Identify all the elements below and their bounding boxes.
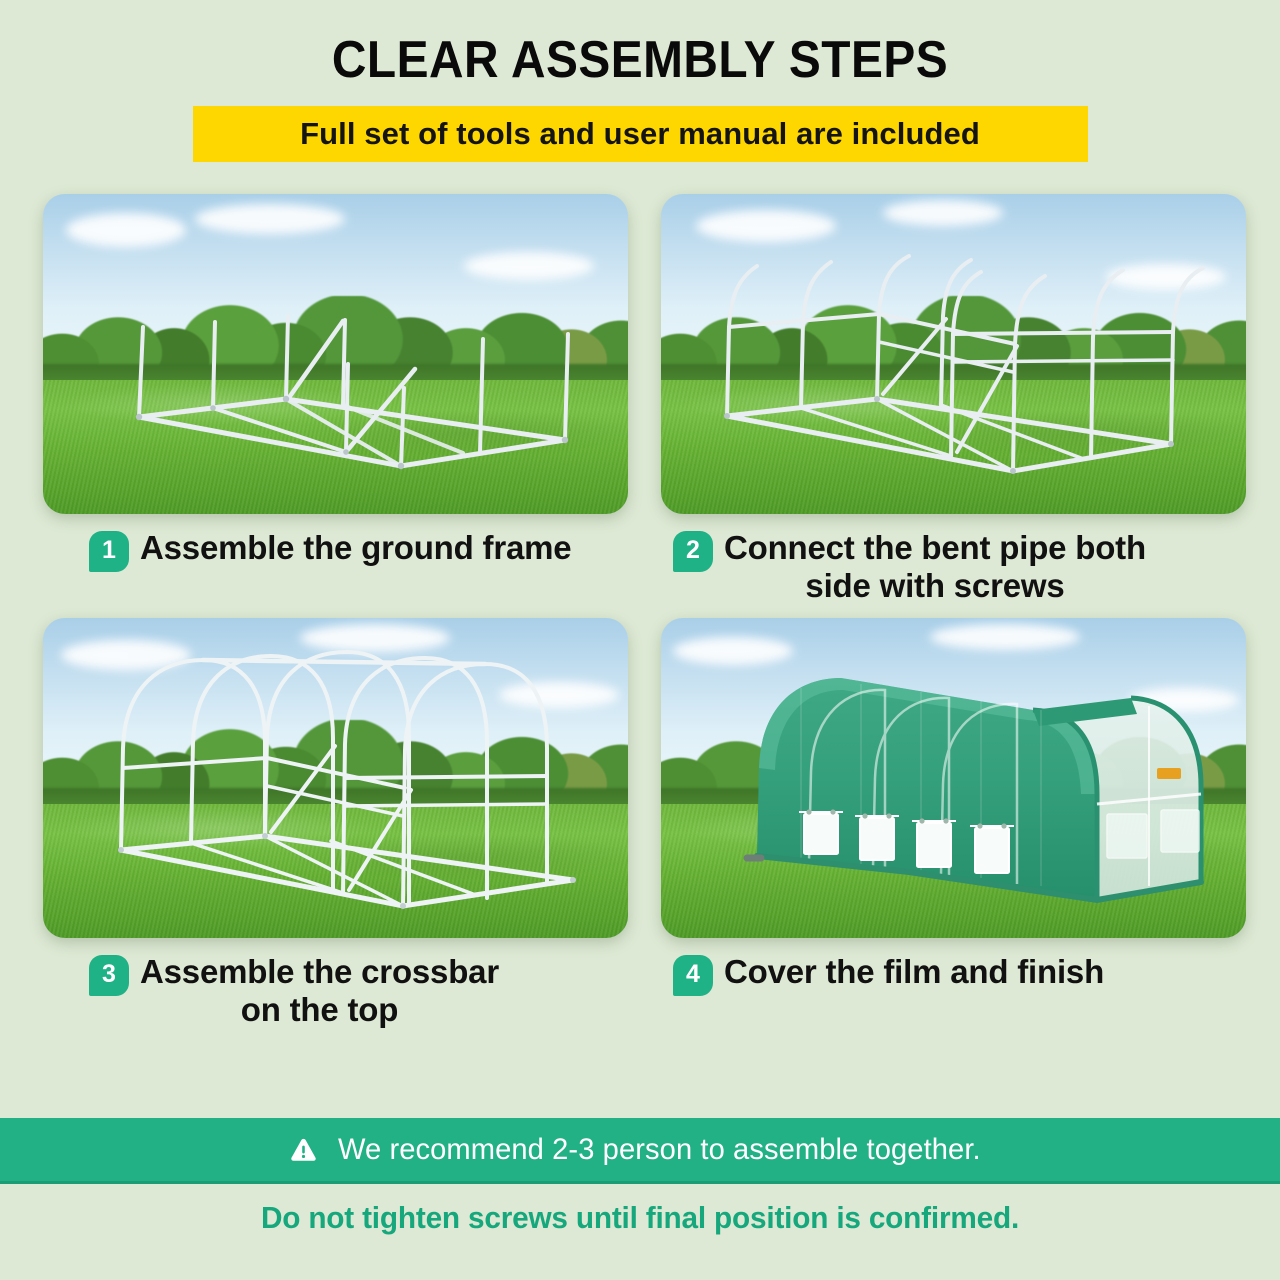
header: CLEAR ASSEMBLY STEPS Full set of tools a… (0, 0, 1280, 162)
covered-greenhouse-illustration (661, 618, 1246, 938)
step-caption-4: 4 Cover the film and finish (651, 938, 1251, 1042)
step-caption-1: 1 Assemble the ground frame (29, 514, 629, 618)
step-photo-1 (43, 194, 628, 514)
step-caption-line1: Assemble the crossbar (140, 953, 499, 990)
step-badge-1: 1 (89, 531, 129, 572)
step-caption-line2: side with screws (724, 567, 1146, 605)
step-badge-3: 3 (89, 955, 129, 996)
ground-frame-illustration (43, 194, 628, 514)
page-title: CLEAR ASSEMBLY STEPS (51, 34, 1229, 86)
step-caption-line2: on the top (140, 991, 499, 1029)
step-caption-3: 3 Assemble the crossbar on the top (29, 938, 629, 1042)
step-photo-2 (661, 194, 1246, 514)
step-number-4: 4 (686, 962, 700, 987)
warning-triangle-icon (290, 1137, 317, 1162)
footnote-text: Do not tighten screws until final positi… (26, 1200, 1255, 1236)
step-badge-2: 2 (673, 531, 713, 572)
step-caption-text-1: Assemble the ground frame (140, 527, 571, 567)
step-caption-2: 2 Connect the bent pipe both side with s… (651, 514, 1251, 618)
step-cell-1: 1 Assemble the ground frame (29, 194, 629, 618)
step-photo-3 (43, 618, 628, 938)
step-number-2: 2 (686, 538, 700, 563)
step-number-1: 1 (102, 538, 116, 563)
step-cell-3: 3 Assemble the crossbar on the top (29, 618, 629, 1042)
recommendation-text: We recommend 2-3 person to assemble toge… (338, 1133, 981, 1167)
step-number-3: 3 (102, 962, 116, 987)
steps-grid: 1 Assemble the ground frame (0, 194, 1280, 1042)
subtitle-highlight-bar: Full set of tools and user manual are in… (193, 106, 1088, 162)
step-badge-4: 4 (673, 955, 713, 996)
step-caption-line1: Cover the film and finish (724, 953, 1104, 990)
step-caption-line1: Assemble the ground frame (140, 529, 571, 566)
step-cell-2: 2 Connect the bent pipe both side with s… (651, 194, 1251, 618)
step-caption-text-4: Cover the film and finish (724, 951, 1104, 991)
step-cell-4: 4 Cover the film and finish (651, 618, 1251, 1042)
step-caption-text-2: Connect the bent pipe both side with scr… (724, 527, 1146, 604)
step-caption-text-3: Assemble the crossbar on the top (140, 951, 499, 1028)
subtitle-wrapper: Full set of tools and user manual are in… (0, 106, 1280, 162)
bent-pipes-illustration (661, 194, 1246, 514)
recommendation-banner: We recommend 2-3 person to assemble toge… (0, 1118, 1280, 1184)
crossbar-top-illustration (43, 618, 628, 938)
step-photo-4 (661, 618, 1246, 938)
step-caption-line1: Connect the bent pipe both (724, 529, 1146, 566)
subtitle-text: Full set of tools and user manual are in… (300, 116, 980, 152)
